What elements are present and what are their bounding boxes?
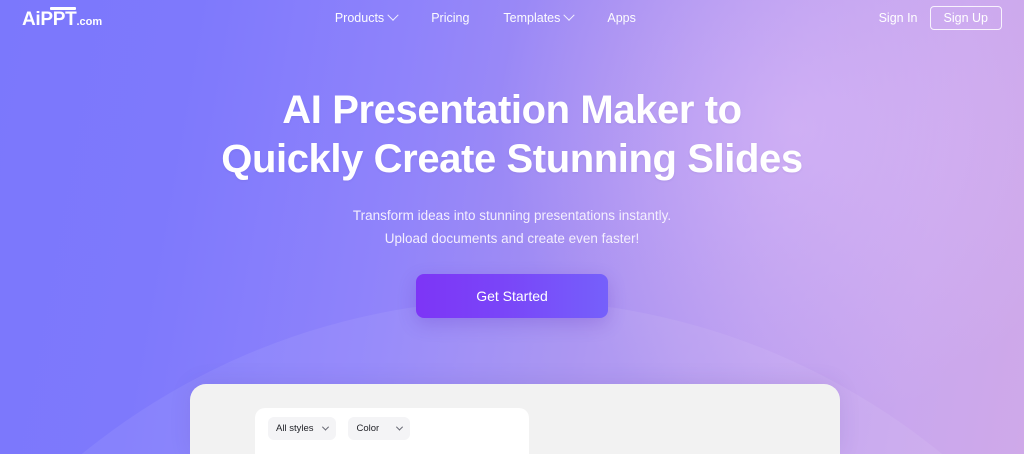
nav-item-apps[interactable]: Apps: [607, 11, 636, 25]
app-preview-panel: All styles Color: [255, 408, 529, 454]
brand-logo-main-label: AiPPT: [22, 9, 76, 30]
headline-line-2: Quickly Create Stunning Slides: [221, 137, 802, 181]
nav-item-products-label: Products: [335, 11, 384, 25]
hero-section: AiPPT .com Products Pricing Templates Ap…: [0, 0, 1024, 454]
app-preview-card: All styles Color: [190, 384, 840, 454]
brand-logo-bar-icon: [50, 7, 76, 10]
chevron-down-icon: [396, 424, 403, 431]
get-started-button[interactable]: Get Started: [416, 274, 608, 318]
filter-all-styles-dropdown[interactable]: All styles: [268, 417, 336, 440]
nav-item-products[interactable]: Products: [335, 11, 397, 25]
auth-actions: Sign In Sign Up: [879, 6, 1002, 31]
nav-item-templates-label: Templates: [503, 11, 560, 25]
subtitle-line-2: Upload documents and create even faster!: [385, 231, 639, 246]
subtitle-line-1: Transform ideas into stunning presentati…: [353, 208, 671, 223]
chevron-down-icon: [388, 10, 399, 21]
nav-item-templates[interactable]: Templates: [503, 11, 573, 25]
filter-color-label: Color: [356, 423, 379, 434]
hero-subtitle: Transform ideas into stunning presentati…: [0, 204, 1024, 250]
page-title: AI Presentation Maker to Quickly Create …: [0, 86, 1024, 184]
nav-item-pricing[interactable]: Pricing: [431, 11, 469, 25]
brand-logo[interactable]: AiPPT .com: [22, 7, 102, 29]
primary-nav-links: Products Pricing Templates Apps: [92, 11, 878, 25]
filter-all-styles-label: All styles: [276, 423, 313, 434]
cta-container: Get Started: [0, 274, 1024, 318]
nav-item-pricing-label: Pricing: [431, 11, 469, 25]
chevron-down-icon: [322, 424, 329, 431]
sign-up-button[interactable]: Sign Up: [930, 6, 1002, 31]
filter-row: All styles Color: [255, 408, 529, 440]
nav-item-apps-label: Apps: [607, 11, 636, 25]
chevron-down-icon: [564, 10, 575, 21]
top-navigation-bar: AiPPT .com Products Pricing Templates Ap…: [0, 0, 1024, 36]
headline-line-1: AI Presentation Maker to: [282, 88, 741, 132]
hero-content: AI Presentation Maker to Quickly Create …: [0, 0, 1024, 318]
sign-in-link[interactable]: Sign In: [879, 11, 918, 25]
brand-logo-text: AiPPT: [22, 7, 76, 29]
filter-color-dropdown[interactable]: Color: [348, 417, 410, 440]
